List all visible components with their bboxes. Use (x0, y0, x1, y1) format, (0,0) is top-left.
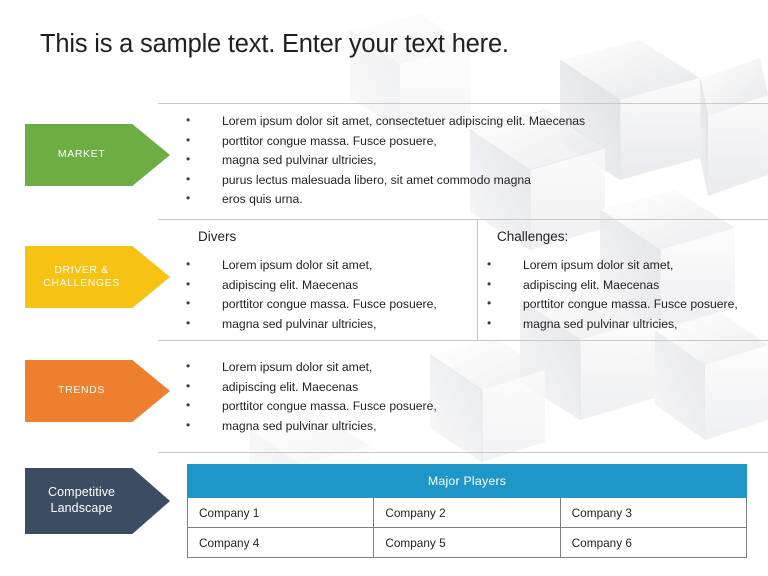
list-item: eros quis urna. (186, 190, 706, 210)
table-cell: Company 5 (374, 528, 560, 558)
table-header-major-players: Major Players (188, 465, 747, 498)
tag-trends-label: TRENDS (58, 384, 137, 397)
table-header-row: Major Players (188, 465, 747, 498)
section-divider-2 (158, 219, 768, 220)
list-item: adipiscing elit. Maecenas (186, 276, 466, 296)
tag-competitive-landscape-label: Competitive Landscape (48, 485, 147, 516)
list-item: porttitor congue massa. Fusce posuere, (186, 397, 586, 417)
market-bullet-list: Lorem ipsum dolor sit amet, consectetuer… (186, 112, 706, 210)
slide-canvas: This is a sample text. Enter your text h… (0, 0, 768, 576)
list-item: magna sed pulvinar ultricies, (487, 315, 767, 335)
major-players-table: Major Players Company 1 Company 2 Compan… (187, 464, 747, 558)
list-item: porttitor congue massa. Fusce posuere, (487, 295, 767, 315)
challenges-bullet-list: Lorem ipsum dolor sit amet, adipiscing e… (487, 256, 767, 334)
divers-bullet-list: Lorem ipsum dolor sit amet, adipiscing e… (186, 256, 466, 334)
tag-line-2: Landscape (51, 501, 113, 515)
divers-heading: Divers (198, 229, 236, 244)
list-item: Lorem ipsum dolor sit amet, (186, 358, 586, 378)
table-cell: Company 6 (560, 528, 746, 558)
tag-line-2: CHALLENGES (43, 277, 120, 289)
tag-trends[interactable]: TRENDS (25, 360, 170, 422)
tag-market-label: MARKET (58, 148, 137, 161)
section-divider-4 (158, 452, 768, 453)
tag-line-1: Competitive (48, 485, 115, 499)
tag-market[interactable]: MARKET (25, 124, 170, 186)
table-row: Company 4 Company 5 Company 6 (188, 528, 747, 558)
list-item: purus lectus malesuada libero, sit amet … (186, 171, 706, 191)
list-item: adipiscing elit. Maecenas (186, 378, 586, 398)
tag-line-1: DRIVER & (54, 264, 108, 276)
table-cell: Company 2 (374, 498, 560, 528)
column-divider (477, 219, 478, 340)
table-cell: Company 4 (188, 528, 374, 558)
list-item: porttitor congue massa. Fusce posuere, (186, 295, 466, 315)
list-item: magna sed pulvinar ultricies, (186, 151, 706, 171)
list-item: magna sed pulvinar ultricies, (186, 315, 466, 335)
table-cell: Company 1 (188, 498, 374, 528)
table-row: Company 1 Company 2 Company 3 (188, 498, 747, 528)
list-item: Lorem ipsum dolor sit amet, (186, 256, 466, 276)
trends-bullet-list: Lorem ipsum dolor sit amet, adipiscing e… (186, 358, 586, 436)
tag-driver-challenges-label: DRIVER & CHALLENGES (43, 264, 152, 290)
list-item: magna sed pulvinar ultricies, (186, 417, 586, 437)
section-divider-3 (158, 340, 768, 341)
section-divider-1 (158, 103, 768, 104)
list-item: Lorem ipsum dolor sit amet, (487, 256, 767, 276)
table-cell: Company 3 (560, 498, 746, 528)
tag-driver-challenges[interactable]: DRIVER & CHALLENGES (25, 246, 170, 308)
page-title: This is a sample text. Enter your text h… (40, 30, 509, 59)
challenges-heading: Challenges: (497, 229, 568, 244)
tag-competitive-landscape[interactable]: Competitive Landscape (25, 468, 170, 534)
list-item: porttitor congue massa. Fusce posuere, (186, 132, 706, 152)
list-item: adipiscing elit. Maecenas (487, 276, 767, 296)
list-item: Lorem ipsum dolor sit amet, consectetuer… (186, 112, 706, 132)
